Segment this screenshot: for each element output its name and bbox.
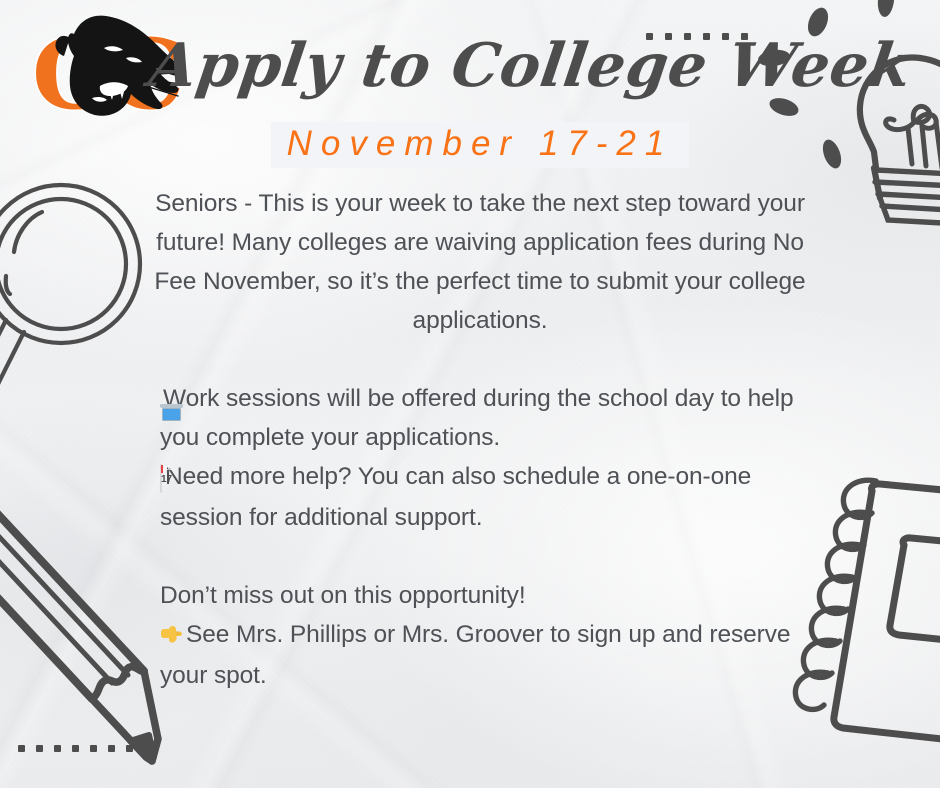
- details-section: Work sessions will be offered during the…: [160, 379, 810, 695]
- closing-text-signup: See Mrs. Phillips or Mrs. Groover to sig…: [160, 621, 790, 689]
- closing-text-dont-miss: Don’t miss out on this opportunity!: [160, 582, 526, 609]
- detail-item-one-on-one: JUL 17 Need more help? You can also sche…: [160, 457, 810, 537]
- calendar-icon: JUL 17: [160, 459, 162, 498]
- date-range-wrapper: November 17-21: [150, 122, 810, 168]
- date-range-band: November 17-21: [271, 122, 690, 168]
- flyer-canvas: GC: [0, 0, 940, 788]
- page-title: Apply to College Week: [146, 36, 814, 96]
- detail-text-one-on-one: Need more help? You can also schedule a …: [160, 463, 751, 531]
- detail-text-work-sessions: Work sessions will be offered during the…: [160, 385, 794, 451]
- closing-line-signup: See Mrs. Phillips or Mrs. Groover to sig…: [160, 615, 810, 695]
- intro-paragraph: Seniors - This is your week to take the …: [150, 184, 810, 340]
- calendar-month-label: JUL: [161, 465, 162, 473]
- closing-line-dont-miss: Don’t miss out on this opportunity!: [160, 576, 810, 615]
- detail-item-work-sessions: Work sessions will be offered during the…: [160, 379, 810, 457]
- pointing-right-icon: [160, 617, 183, 656]
- date-range-text: November 17-21: [287, 124, 674, 163]
